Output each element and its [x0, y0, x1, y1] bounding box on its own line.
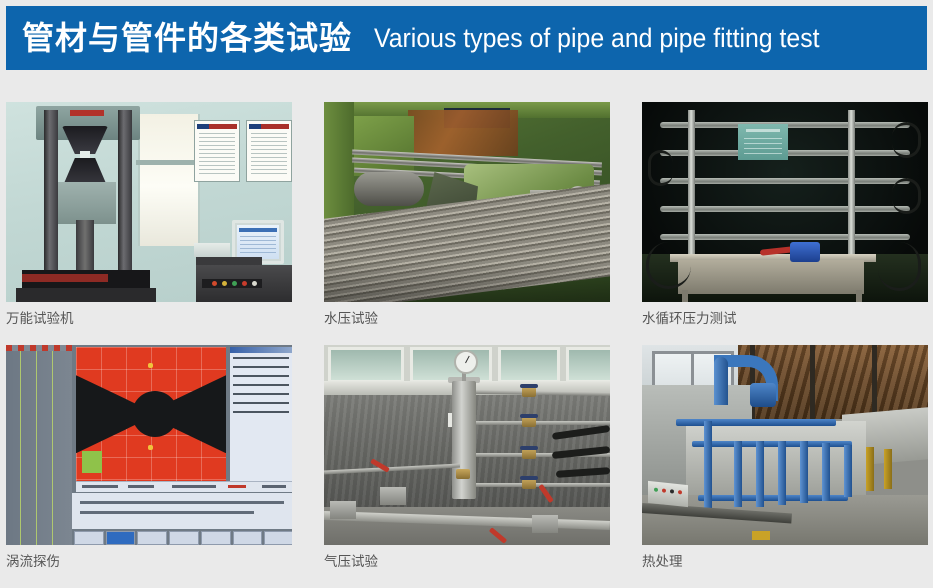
toolbar-button[interactable] [169, 531, 199, 545]
blue-pipe-riser [844, 445, 852, 497]
status-field [128, 485, 154, 488]
valve-handle [520, 446, 538, 450]
control-desk [196, 265, 292, 302]
yellow-pipe-riser [866, 447, 874, 491]
pipe-return-bend [892, 178, 921, 214]
trace-line [20, 345, 21, 545]
wall-notice-board [246, 120, 292, 182]
readout-parameter-rows [233, 357, 289, 413]
workshop-window [498, 347, 560, 383]
gallery-tile[interactable]: 热处理 [642, 345, 928, 570]
desk-indicator-light [212, 281, 217, 286]
pipe-return-bend [892, 122, 921, 158]
green-frame-post [324, 102, 354, 220]
pressure-vessel-cylinder [452, 381, 476, 499]
status-bar [76, 481, 292, 492]
status-field [82, 485, 118, 488]
tile-caption: 涡流探伤 [6, 554, 292, 570]
foreground-shadow [324, 262, 610, 302]
image-gallery: 万能试验机 水压试验 [6, 102, 927, 570]
furnace-body [686, 421, 866, 495]
tile-caption: 水循环压力测试 [642, 311, 928, 327]
equipment-bench [678, 260, 864, 294]
information-sign [738, 124, 788, 160]
control-indicator [678, 490, 682, 494]
lab-window [138, 114, 200, 246]
valve-handle [520, 384, 538, 388]
blower-unit [750, 383, 776, 407]
blue-pipe-riser [778, 441, 786, 505]
toolbar-button-bar[interactable] [72, 531, 292, 545]
notice-board-header [197, 124, 237, 129]
photo-universal-testing-machine[interactable] [6, 102, 292, 302]
photo-hydrostatic-pressure-test[interactable] [324, 102, 610, 302]
machine-column-left [44, 110, 58, 288]
tile-caption: 水压试验 [324, 311, 610, 327]
blue-pipe-riser [734, 441, 742, 507]
photo-pneumatic-pressure-test[interactable] [324, 345, 610, 545]
bench-leg [682, 290, 688, 302]
notice-board-text [251, 133, 287, 177]
signal-blob-center [132, 391, 178, 437]
banner-title-english: Various types of pipe and pipe fitting t… [374, 25, 820, 52]
readout-panel-header [230, 347, 292, 353]
machine-plinth [16, 288, 156, 302]
horizontal-pipe [660, 234, 910, 240]
gallery-tile[interactable]: 万能试验机 [6, 102, 292, 327]
brass-valve [456, 469, 470, 479]
blue-pipe-horizontal [676, 419, 836, 426]
yellow-machine-part [752, 531, 770, 540]
blue-pipe-riser [822, 443, 830, 501]
machine-base-stripe [22, 274, 108, 282]
toolbar-button[interactable] [264, 531, 292, 545]
pressure-gauge [454, 350, 478, 374]
control-indicator [670, 489, 674, 493]
horizontal-pipe [660, 178, 910, 184]
clamp-fixture [330, 501, 356, 519]
horizontal-pipe [660, 206, 910, 212]
marker-dot [148, 445, 153, 450]
keyboard [196, 257, 262, 265]
photo-eddy-current-flaw-detection[interactable] [6, 345, 292, 545]
gallery-row: 涡流探伤 [6, 345, 927, 570]
blue-pump-motor [790, 242, 820, 262]
brass-valve [522, 417, 536, 427]
banner-title-chinese: 管材与管件的各类试验 [22, 22, 352, 54]
desk-indicator-light [252, 281, 257, 286]
notice-board-text [199, 133, 235, 177]
brass-valve [522, 479, 536, 489]
status-field-alert [228, 485, 246, 488]
rack-post-right [848, 110, 855, 278]
blue-pipe-riser [756, 441, 764, 507]
desk-indicator-light [232, 281, 237, 286]
gallery-tile[interactable]: 涡流探伤 [6, 345, 292, 570]
panel-top-strip [6, 345, 72, 351]
toolbar-button[interactable] [137, 531, 167, 545]
waveform-side-panel [6, 345, 72, 545]
readout-panel [230, 347, 292, 481]
roof-rafter [810, 345, 815, 425]
valve-handle [520, 414, 538, 418]
toolbar-button[interactable] [74, 531, 104, 545]
control-indicator [662, 489, 666, 493]
workshop-window [328, 347, 404, 383]
machine-ram [76, 220, 94, 274]
toolbar-button[interactable] [201, 531, 231, 545]
machine-column-right [118, 110, 132, 288]
clamp-fixture [532, 515, 558, 533]
page-header-banner: 管材与管件的各类试验 Various types of pipe and pip… [6, 6, 927, 70]
pipe-return-bend [648, 150, 673, 186]
trace-line [52, 345, 53, 545]
workshop-window [566, 347, 610, 383]
message-log-area [72, 493, 292, 529]
flexible-hose [646, 242, 691, 289]
status-field [262, 485, 286, 488]
brass-valve [522, 387, 536, 397]
yellow-pipe-riser [884, 449, 892, 489]
toolbar-button[interactable] [233, 531, 263, 545]
log-line [80, 501, 284, 504]
photo-heat-treatment-furnace[interactable] [642, 345, 928, 545]
valve-handle [520, 476, 538, 480]
gallery-tile[interactable]: 水循环压力测试 [642, 102, 928, 327]
sign-text-block [744, 138, 782, 155]
overhead-pipe [474, 421, 610, 425]
blue-pipe-riser [800, 441, 808, 503]
wall-notice-board [194, 120, 240, 182]
brass-valve [522, 449, 536, 459]
trace-line [36, 345, 37, 545]
hydraulic-cylinder [354, 172, 424, 206]
control-indicator [654, 488, 658, 492]
log-line [80, 511, 254, 514]
green-status-marker [82, 451, 102, 473]
rusted-linkage [408, 110, 518, 156]
desk-indicator-light [242, 281, 247, 286]
sign-title-line [746, 129, 780, 132]
machine-mid-housing [58, 182, 116, 224]
control-box [648, 481, 688, 507]
status-field [172, 485, 216, 488]
gallery-tile[interactable]: 气压试验 [324, 345, 610, 570]
flexible-hose [878, 242, 921, 291]
monitor-screen [237, 225, 279, 259]
tile-caption: 气压试验 [324, 554, 610, 570]
blue-pipe-riser [704, 421, 712, 509]
gallery-row: 万能试验机 水压试验 [6, 102, 927, 327]
rack-post-left [688, 110, 695, 278]
notice-board-header [249, 124, 289, 129]
green-machine-block [354, 116, 414, 176]
photo-water-circulation-pressure-test[interactable] [642, 102, 928, 302]
marker-dot [148, 363, 153, 368]
bench-leg [856, 290, 862, 302]
toolbar-button-selected[interactable] [106, 531, 136, 545]
tile-caption: 万能试验机 [6, 311, 292, 327]
gallery-tile[interactable]: 水压试验 [324, 102, 610, 327]
eddy-current-plot [76, 347, 226, 481]
desk-papers [194, 243, 230, 257]
tile-caption: 热处理 [642, 554, 928, 570]
desk-indicator-light [222, 281, 227, 286]
clamp-fixture [380, 487, 406, 505]
blue-duct [714, 357, 728, 405]
